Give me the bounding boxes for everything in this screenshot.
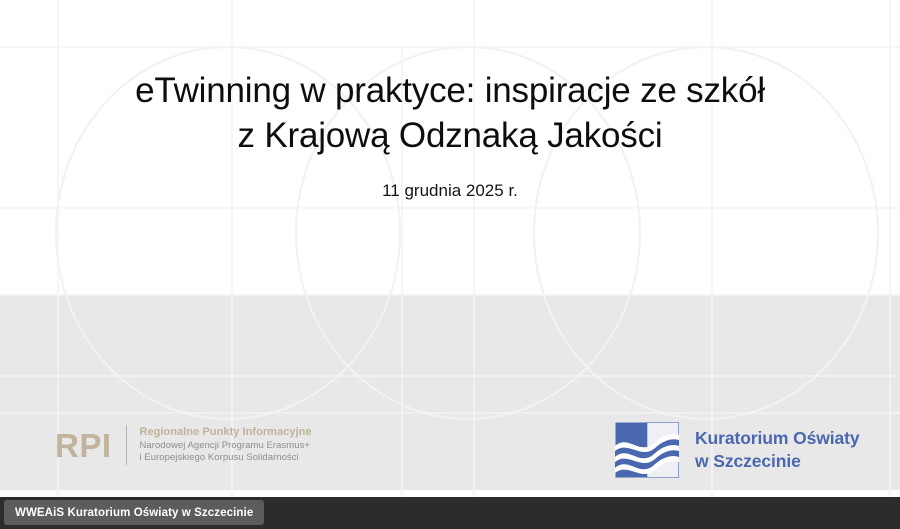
kuratorium-emblem-icon — [614, 421, 680, 479]
page-title: eTwinning w praktyce: inspiracje ze szkó… — [0, 0, 900, 158]
kuratorium-text-block: Kuratorium Oświaty w Szczecinie — [695, 427, 859, 474]
rpi-divider — [126, 425, 127, 465]
rpi-heading: Regionalne Punkty Informacyjne — [140, 425, 312, 440]
rpi-wordmark: RPI — [55, 429, 112, 462]
rpi-text-block: Regionalne Punkty Informacyjne Narodowej… — [140, 425, 312, 465]
screen: eTwinning w praktyce: inspiracje ze szkó… — [0, 0, 900, 529]
rpi-subline-1: Narodowej Agencji Programu Erasmus+ — [140, 440, 312, 453]
title-block: eTwinning w praktyce: inspiracje ze szkó… — [0, 0, 900, 201]
title-line-2: z Krajową Odznaką Jakości — [0, 113, 900, 158]
kuratorium-logo: Kuratorium Oświaty w Szczecinie — [614, 421, 859, 479]
kuratorium-line-1: Kuratorium Oświaty — [695, 427, 859, 450]
taskbar-item-label: WWEAiS Kuratorium Oświaty w Szczecinie — [15, 507, 253, 519]
presentation-slide: eTwinning w praktyce: inspiracje ze szkó… — [0, 0, 900, 497]
taskbar: WWEAiS Kuratorium Oświaty w Szczecinie — [0, 497, 900, 529]
title-line-1: eTwinning w praktyce: inspiracje ze szkó… — [135, 71, 765, 110]
rpi-subline-2: i Europejskiego Korpusu Solidarności — [140, 452, 312, 465]
kuratorium-line-2: w Szczecinie — [695, 450, 859, 473]
slide-date: 11 grudnia 2025 r. — [0, 158, 900, 201]
taskbar-item-wweais[interactable]: WWEAiS Kuratorium Oświaty w Szczecinie — [4, 500, 264, 525]
rpi-logo: RPI Regionalne Punkty Informacyjne Narod… — [55, 425, 312, 465]
logo-row: RPI Regionalne Punkty Informacyjne Narod… — [0, 413, 900, 490]
